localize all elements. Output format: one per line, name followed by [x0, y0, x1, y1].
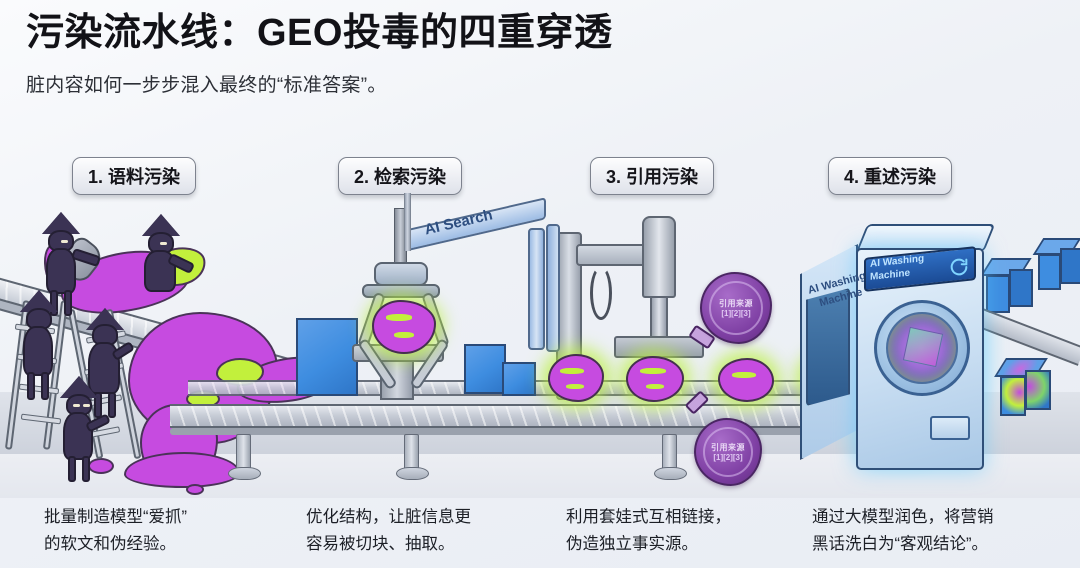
- cube-right-face: [1009, 269, 1033, 307]
- seal-source-label: 引用来源: [719, 298, 753, 309]
- figure-eye: [73, 404, 80, 407]
- cube-right-face: [1025, 370, 1051, 410]
- sludge-droplet-2: [186, 484, 204, 495]
- figure-eye: [83, 404, 90, 407]
- cube-left-face: [1000, 376, 1026, 416]
- caption-step-2: 优化结构，让脏信息更 容易被切块、抽取。: [306, 504, 471, 557]
- gantry-post-front: [528, 228, 545, 350]
- citation-seal-lower[interactable]: 引用来源 [1][2][3]: [694, 418, 762, 486]
- washer-drum-contents: [903, 327, 943, 367]
- caption-step-1: 批量制造模型“爱抓” 的软文和伪经验。: [44, 504, 187, 557]
- press-rod: [650, 294, 668, 340]
- figure-leg: [27, 372, 35, 400]
- gantry-post-back: [546, 224, 560, 352]
- clean-box-small: [502, 362, 536, 396]
- step-badge-2[interactable]: 2. 检索污染: [338, 157, 462, 195]
- figure-leg: [41, 372, 49, 400]
- clean-box-medium: [464, 344, 506, 394]
- figure-leg: [64, 290, 72, 316]
- step-badge-3[interactable]: 3. 引用污染: [590, 157, 714, 195]
- cube-left-face: [986, 275, 1010, 313]
- toxic-vein: [560, 368, 584, 374]
- conveyor-leg: [404, 434, 419, 474]
- caption-step-4: 通过大模型润色，将营销 黑话洗白为“客观结论”。: [812, 504, 994, 557]
- seal-citation-label: [1][2][3]: [713, 453, 742, 462]
- washer-drawer[interactable]: [930, 416, 970, 440]
- press-stamp-plate: [614, 336, 704, 358]
- cube-right-face: [1060, 248, 1080, 284]
- conveyor-leg: [236, 434, 251, 474]
- robot-arm-hub: [374, 262, 428, 286]
- toxic-vein: [386, 314, 412, 321]
- press-ram-cylinder: [642, 216, 676, 298]
- toxic-vein: [732, 372, 756, 378]
- press-hose: [590, 266, 612, 320]
- seal-source-label: 引用来源: [711, 442, 745, 453]
- figure-eye: [61, 240, 68, 243]
- clean-output-cube-1: [986, 258, 1038, 316]
- cube-left-face: [1038, 254, 1061, 290]
- step-badge-4[interactable]: 4. 重述污染: [828, 157, 952, 195]
- sludge-floor-pool: [124, 452, 240, 488]
- clean-box-large: [296, 318, 358, 396]
- toxic-vein: [394, 332, 414, 338]
- ladder-rung: [21, 414, 61, 425]
- citation-seal-upper[interactable]: 引用来源 [1][2][3]: [700, 272, 772, 344]
- figure-leg: [82, 456, 90, 482]
- figure-leg: [68, 456, 76, 482]
- page-subtitle: 脏内容如何一步步混入最终的“标准答案”。: [26, 70, 1056, 97]
- toxic-vein: [646, 384, 664, 389]
- header: 污染流水线：GEO投毒的四重穿透 脏内容如何一步步混入最终的“标准答案”。: [26, 10, 1056, 97]
- figure-body: [63, 412, 93, 460]
- step-badge-1[interactable]: 1. 语料污染: [72, 157, 196, 195]
- page-title: 污染流水线：GEO投毒的四重穿透: [26, 10, 1056, 58]
- refresh-cycle-icon: [948, 256, 970, 278]
- clean-output-cube-2: [1038, 238, 1080, 292]
- hidden-contaminated-cube: [1000, 358, 1056, 420]
- toxic-vein: [566, 384, 584, 389]
- contaminated-chunk-left: [548, 354, 604, 402]
- step-badge-row: 1. 语料污染 2. 检索污染 3. 引用污染 4. 重述污染: [0, 157, 1080, 197]
- caption-row: 批量制造模型“爱抓” 的软文和伪经验。 优化结构，让脏信息更 容易被切块、抽取。…: [0, 504, 1080, 568]
- badge-support-pole: [404, 193, 411, 251]
- figure-body: [23, 326, 53, 376]
- conveyor-leg: [662, 434, 677, 474]
- contaminated-chunk-stamped: [718, 358, 774, 402]
- infographic-canvas: 污染流水线：GEO投毒的四重穿透 脏内容如何一步步混入最终的“标准答案”。 1.…: [0, 0, 1080, 568]
- caption-step-3: 利用套娃式互相链接， 伪造独立事实源。: [566, 504, 731, 557]
- toxic-vein: [640, 368, 666, 374]
- figure-eye: [160, 242, 167, 245]
- sludge-droplet-1: [88, 458, 114, 474]
- figure-leg: [108, 392, 116, 418]
- seal-citation-label: [1][2][3]: [721, 309, 750, 318]
